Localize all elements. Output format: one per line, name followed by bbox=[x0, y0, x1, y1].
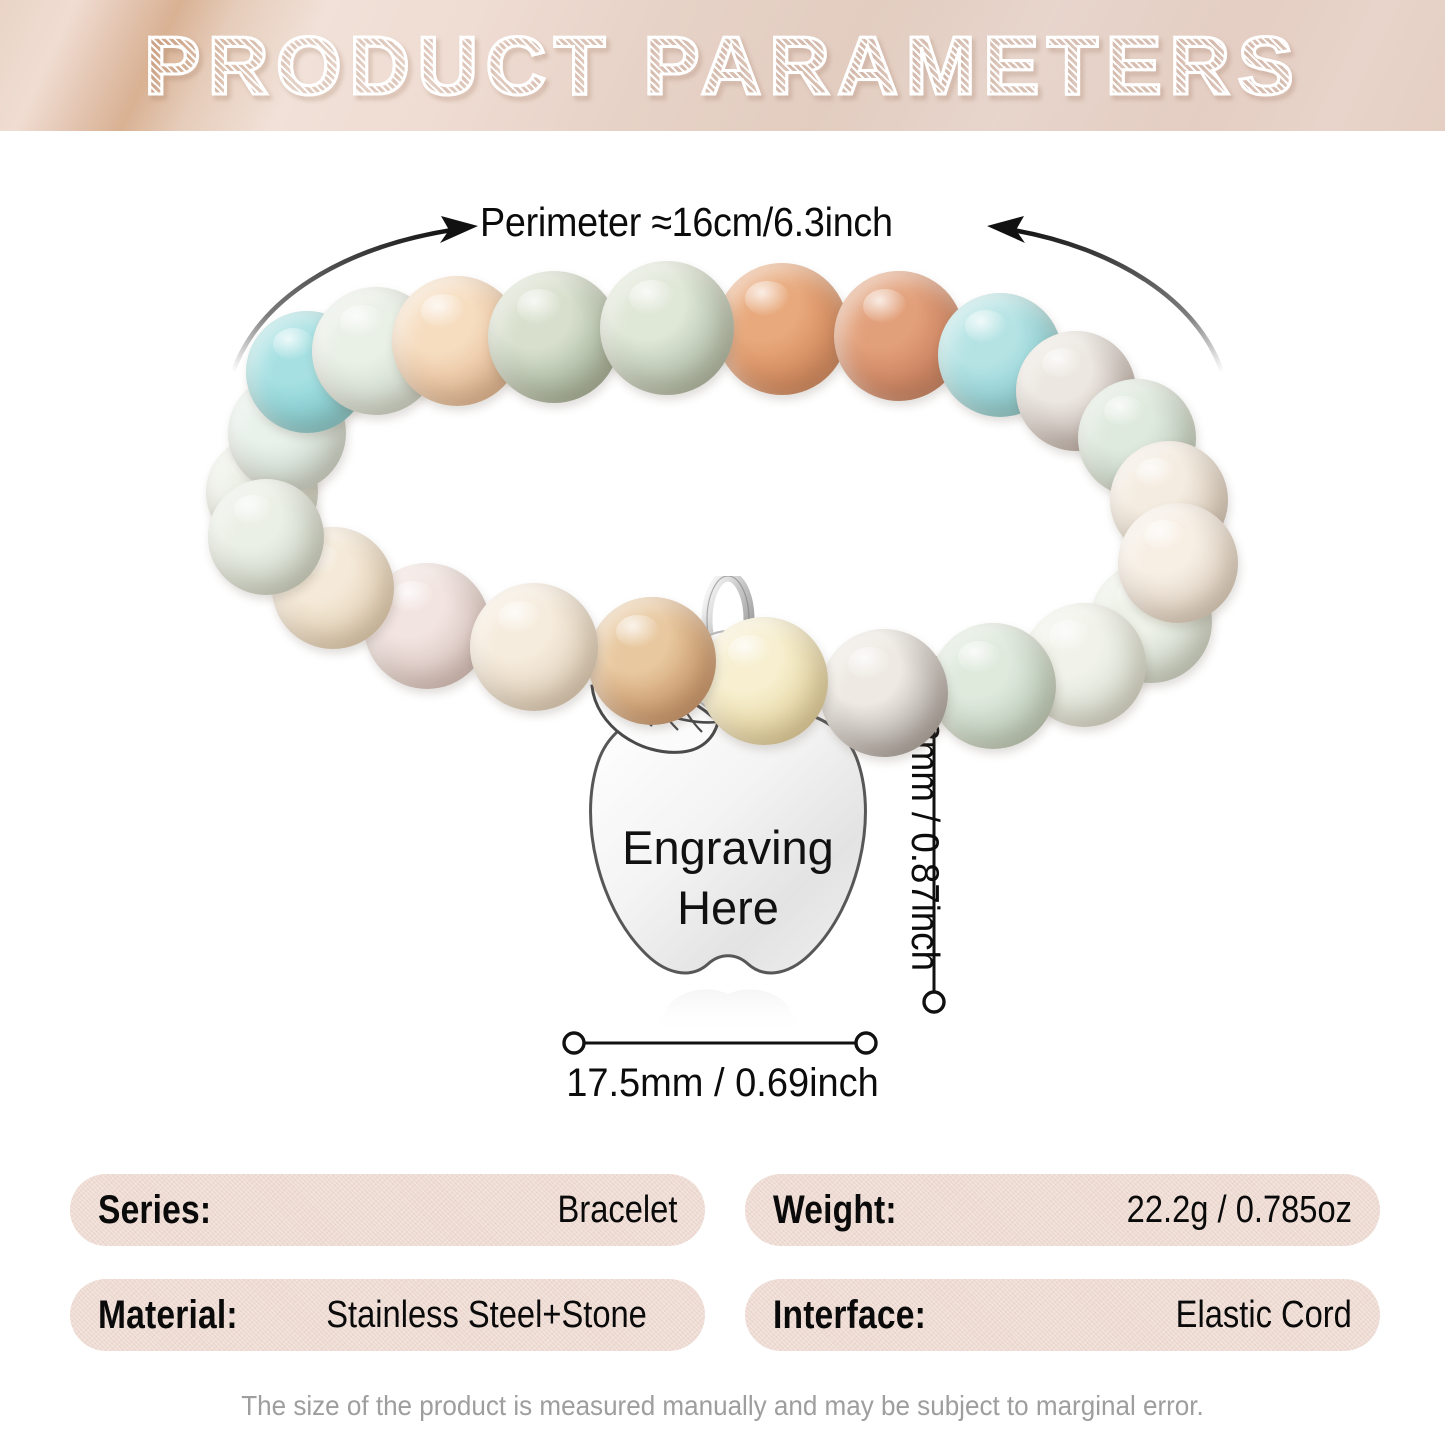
charm-reflection bbox=[658, 989, 798, 1036]
spec-series-label: Series: bbox=[98, 1188, 211, 1233]
spec-interface-value: Elastic Cord bbox=[1176, 1294, 1352, 1337]
engraving-line-1: Engraving bbox=[622, 821, 834, 874]
header-banner: PRODUCT PARAMETERS bbox=[0, 0, 1445, 131]
spec-table: Series: Bracelet Weight: 22.2g / 0.785oz… bbox=[70, 1174, 1380, 1384]
spec-interface-label: Interface: bbox=[773, 1293, 926, 1338]
charm-width-label: 17.5mm / 0.69inch bbox=[36, 1061, 1409, 1106]
bead bbox=[700, 617, 828, 745]
page-title: PRODUCT PARAMETERS bbox=[0, 0, 1445, 131]
bead bbox=[930, 623, 1056, 749]
bead bbox=[1118, 503, 1238, 623]
measurement-disclaimer: The size of the product is measured manu… bbox=[51, 1390, 1395, 1422]
spec-material: Material: Stainless Steel+Stone bbox=[70, 1279, 705, 1351]
spec-row-2: Material: Stainless Steel+Stone Interfac… bbox=[70, 1279, 1380, 1351]
engraving-line-2: Here bbox=[677, 881, 779, 934]
spec-series-value: Bracelet bbox=[557, 1189, 677, 1232]
perimeter-label: Perimeter ≈16cm/6.3inch bbox=[480, 199, 893, 246]
bead bbox=[588, 597, 716, 725]
spec-row-1: Series: Bracelet Weight: 22.2g / 0.785oz bbox=[70, 1174, 1380, 1246]
product-parameters-infographic: PRODUCT PARAMETERS bbox=[0, 0, 1445, 1445]
bead bbox=[820, 629, 948, 757]
bead bbox=[208, 479, 324, 595]
bead bbox=[600, 261, 734, 395]
spec-interface: Interface: Elastic Cord bbox=[745, 1279, 1380, 1351]
bead bbox=[716, 263, 848, 395]
spec-series: Series: Bracelet bbox=[70, 1174, 705, 1246]
spec-material-value: Stainless Steel+Stone bbox=[326, 1294, 647, 1337]
bead bbox=[470, 583, 598, 711]
spec-weight: Weight: 22.2g / 0.785oz bbox=[745, 1174, 1380, 1246]
spec-material-label: Material: bbox=[98, 1293, 238, 1338]
spec-weight-label: Weight: bbox=[773, 1188, 897, 1233]
spec-weight-value: 22.2g / 0.785oz bbox=[1127, 1189, 1352, 1232]
